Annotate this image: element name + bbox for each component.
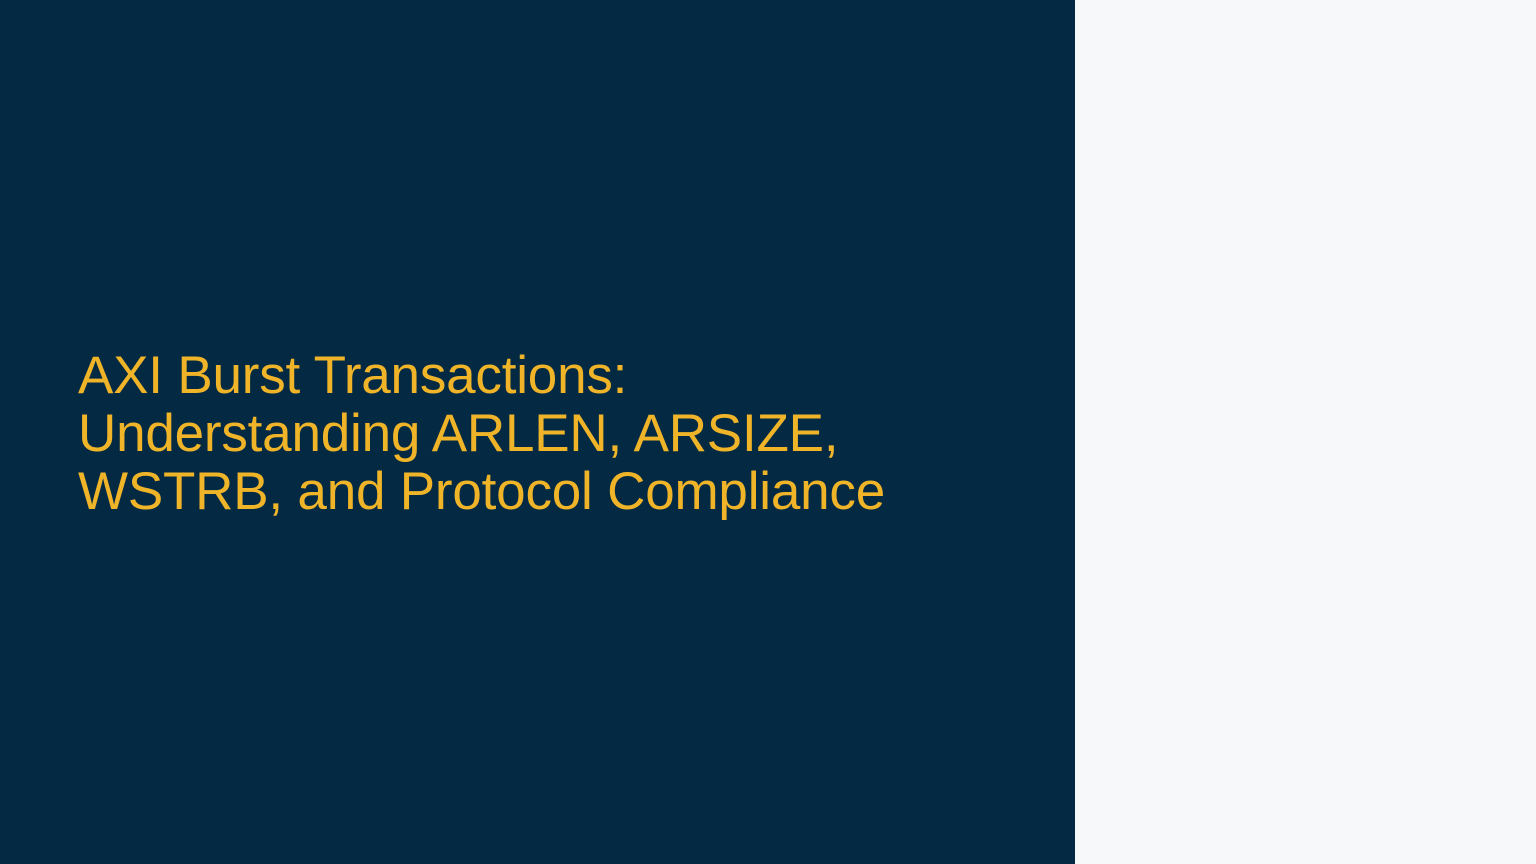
sidebar-panel: Architectures & Processors [1075,0,1536,864]
slide-canvas: AXI Burst Transactions: Understanding AR… [0,0,1536,864]
page-title: AXI Burst Transactions: Understanding AR… [78,347,1038,521]
main-content-panel: AXI Burst Transactions: Understanding AR… [0,0,1075,864]
sidebar-vertical-label-group: Architectures & Processors [1075,0,1536,864]
title-block: AXI Burst Transactions: Understanding AR… [78,347,1038,521]
